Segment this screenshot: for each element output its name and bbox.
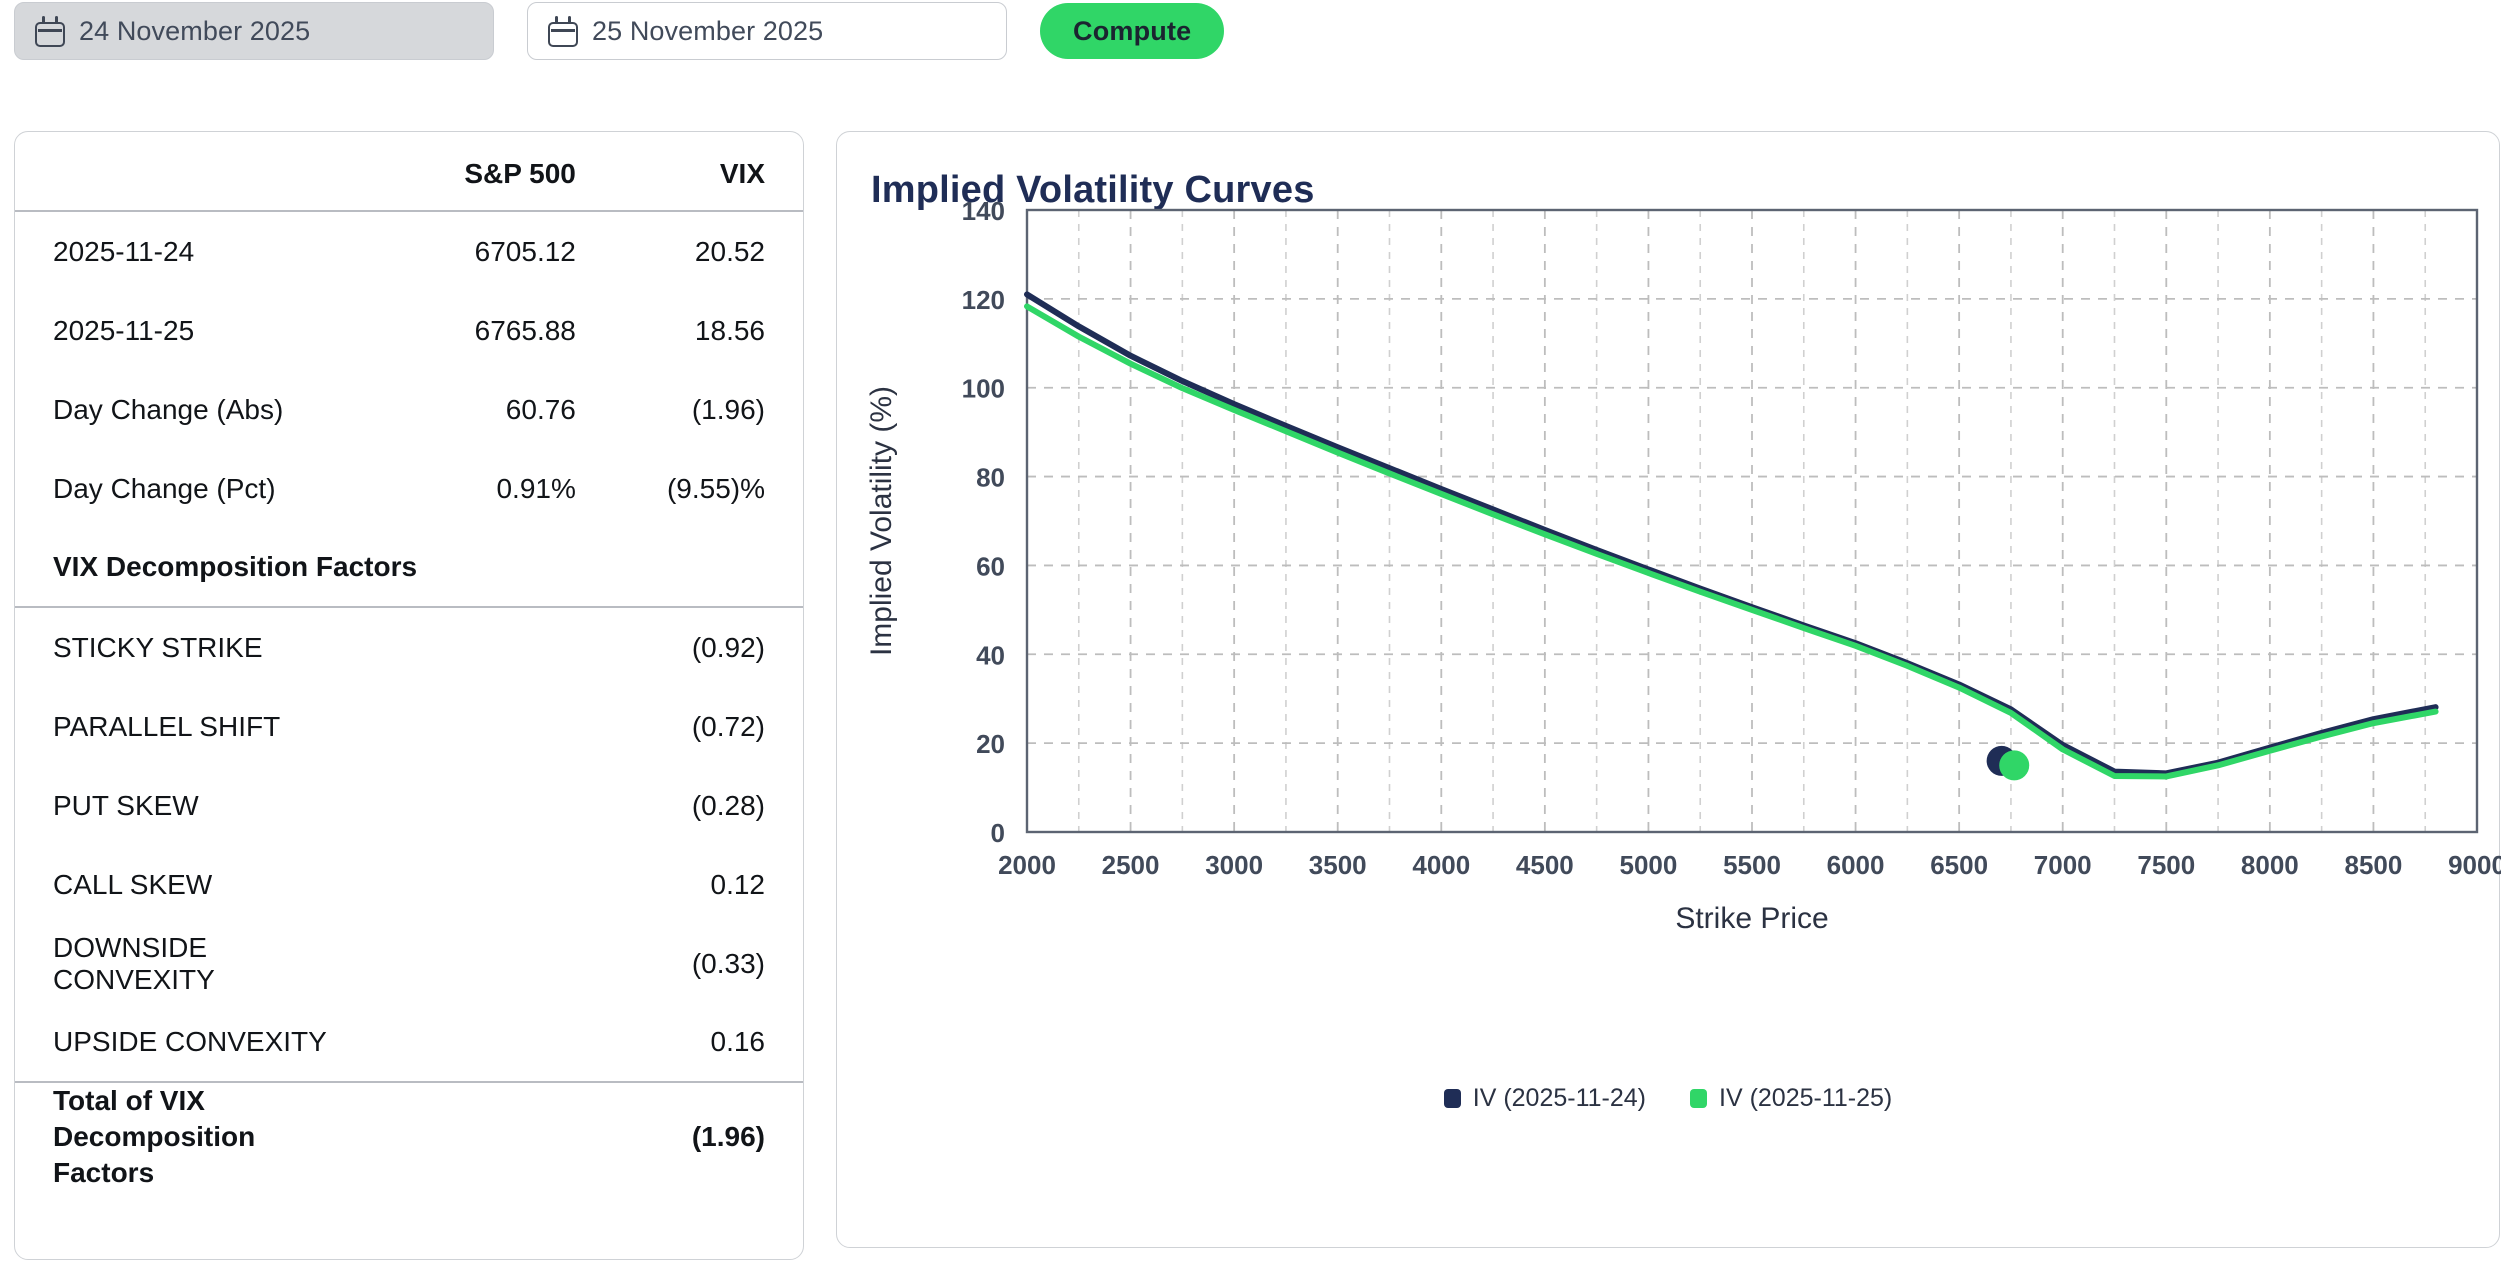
row-value-spx: 60.76 [362,370,614,449]
factor-label: PARALLEL SHIFT [15,687,362,766]
row-label: 2025-11-25 [15,291,362,370]
factor-spacer [362,608,614,687]
table-row: UPSIDE CONVEXITY0.16 [15,1003,803,1082]
row-value-spx: 6705.12 [362,212,614,291]
row-value-vix: (9.55)% [614,449,803,528]
legend-item[interactable]: IV (2025-11-25) [1690,1084,1892,1113]
factor-label: STICKY STRIKE [15,608,362,687]
factor-label: UPSIDE CONVEXITY [15,1003,362,1082]
factor-label: CALL SKEW [15,845,362,924]
end-date-field[interactable]: 25 November 2025 [527,2,1007,60]
start-date-field[interactable]: 24 November 2025 [14,2,494,60]
x-tick-label: 3500 [1309,850,1367,880]
x-tick-label: 6500 [1930,850,1988,880]
series-line-2 [1027,306,2436,776]
metrics-table: S&P 500 VIX 2025-11-246705.1220.522025-1… [15,158,803,1190]
row-value-vix: 18.56 [614,291,803,370]
x-tick-label: 6000 [1827,850,1885,880]
column-header-spx: S&P 500 [362,158,614,211]
x-tick-label: 2000 [998,850,1056,880]
total-label: Total of VIX Decomposition Factors [15,1083,362,1190]
table-header-row: S&P 500 VIX [15,158,803,211]
factor-spacer [362,766,614,845]
table-row: 2025-11-256765.8818.56 [15,291,803,370]
table-row: 2025-11-246705.1220.52 [15,212,803,291]
app-root: 24 November 2025 25 November 2025 Comput… [0,0,2514,1282]
y-tick-label: 140 [962,196,1005,226]
x-tick-label: 4500 [1516,850,1574,880]
iv-curves-svg: 2000250030003500400045005000550060006500… [837,132,2501,1092]
y-tick-label: 20 [976,729,1005,759]
x-tick-label: 3000 [1205,850,1263,880]
table-row: CALL SKEW0.12 [15,845,803,924]
factor-spacer [362,845,614,924]
column-header-blank [15,158,362,211]
factor-value: 0.12 [614,845,803,924]
x-tick-label: 8000 [2241,850,2299,880]
section-header-label: VIX Decomposition Factors [15,528,803,607]
y-tick-label: 40 [976,640,1005,670]
row-value-vix: 20.52 [614,212,803,291]
x-tick-label: 4000 [1412,850,1470,880]
table-row: PUT SKEW(0.28) [15,766,803,845]
x-tick-label: 2500 [1102,850,1160,880]
chart-card: Implied Volatility Curves 20002500300035… [836,131,2500,1248]
x-tick-label: 7000 [2034,850,2092,880]
section-header: VIX Decomposition Factors [15,528,803,607]
column-header-vix: VIX [614,158,803,211]
total-row: Total of VIX Decomposition Factors(1.96) [15,1083,803,1190]
x-tick-label: 7500 [2137,850,2195,880]
marker-spot-2025-11-25 [1999,750,2029,780]
calendar-icon [35,16,65,47]
legend-swatch-icon [1444,1089,1461,1108]
compute-button[interactable]: Compute [1040,3,1224,59]
factor-value: 0.16 [614,1003,803,1082]
table-row: Day Change (Pct)0.91%(9.55)% [15,449,803,528]
series-line-1 [1027,294,2436,773]
x-tick-label: 8500 [2345,850,2403,880]
y-tick-label: 60 [976,551,1005,581]
x-tick-label: 9000 [2448,850,2501,880]
x-tick-label: 5000 [1620,850,1678,880]
legend-item[interactable]: IV (2025-11-24) [1444,1084,1646,1113]
y-tick-label: 80 [976,463,1005,493]
end-date-value: 25 November 2025 [592,16,823,47]
total-value: (1.96) [614,1083,803,1190]
row-value-spx: 0.91% [362,449,614,528]
chart-plot-area: 2000250030003500400045005000550060006500… [837,132,2501,1249]
calendar-icon [548,16,578,47]
y-tick-label: 120 [962,285,1005,315]
legend-label: IV (2025-11-25) [1719,1084,1892,1113]
y-axis-label: Implied Volatility (%) [865,386,898,656]
factor-spacer [362,1003,614,1082]
metrics-table-header: S&P 500 VIX [15,158,803,212]
metrics-table-body: 2025-11-246705.1220.522025-11-256765.881… [15,212,803,1190]
factor-value: (0.92) [614,608,803,687]
row-label: 2025-11-24 [15,212,362,291]
factor-spacer [362,924,614,1003]
factor-value: (0.28) [614,766,803,845]
factor-spacer [362,687,614,766]
factor-label: DOWNSIDE CONVEXITY [15,924,362,1003]
legend-label: IV (2025-11-24) [1473,1084,1646,1113]
y-tick-label: 100 [962,374,1005,404]
factor-value: (0.33) [614,924,803,1003]
table-row: Day Change (Abs)60.76(1.96) [15,370,803,449]
table-row: DOWNSIDE CONVEXITY(0.33) [15,924,803,1003]
row-label: Day Change (Pct) [15,449,362,528]
row-value-vix: (1.96) [614,370,803,449]
factor-label: PUT SKEW [15,766,362,845]
start-date-value: 24 November 2025 [79,16,310,47]
y-tick-label: 0 [991,818,1005,848]
x-axis-label: Strike Price [1675,902,1828,935]
table-row: STICKY STRIKE(0.92) [15,608,803,687]
metrics-card: S&P 500 VIX 2025-11-246705.1220.522025-1… [14,131,804,1260]
x-tick-label: 5500 [1723,850,1781,880]
table-row: PARALLEL SHIFT(0.72) [15,687,803,766]
legend-swatch-icon [1690,1089,1707,1108]
chart-legend: IV (2025-11-24)IV (2025-11-25) [837,1084,2499,1113]
row-value-spx: 6765.88 [362,291,614,370]
row-label: Day Change (Abs) [15,370,362,449]
factor-value: (0.72) [614,687,803,766]
total-spacer [362,1083,614,1190]
toolbar: 24 November 2025 25 November 2025 Comput… [0,0,1224,62]
